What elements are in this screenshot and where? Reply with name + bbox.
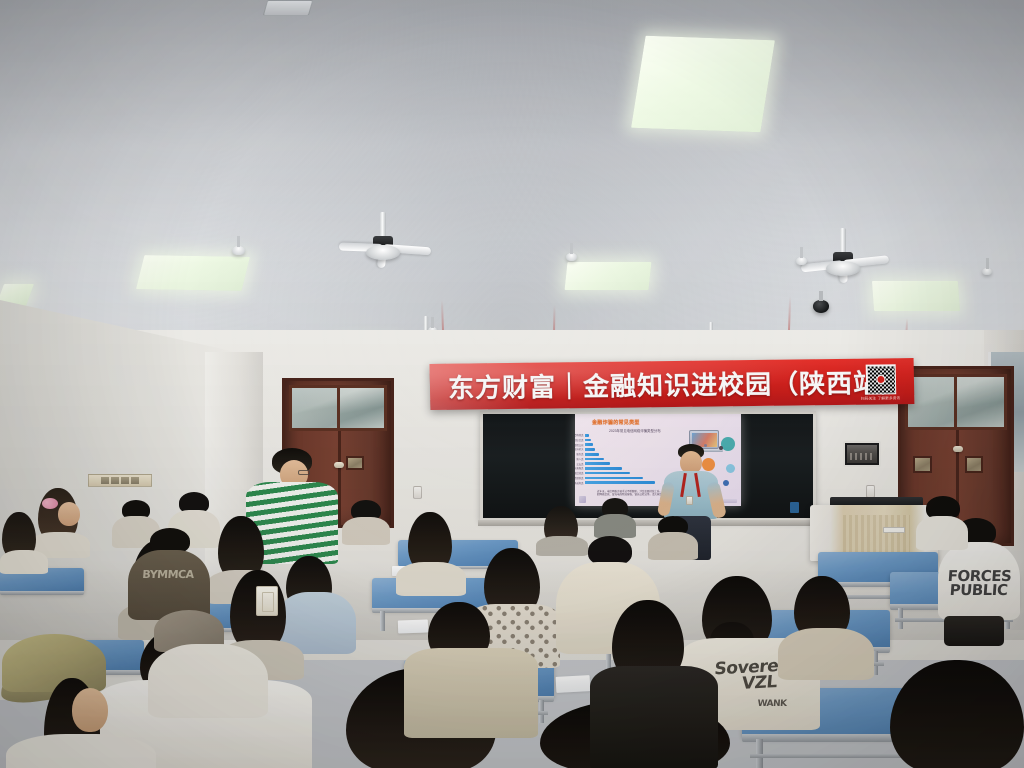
led-panel-light (136, 255, 250, 291)
chart-bar-label: 网络贷款类 (575, 471, 584, 475)
chart-bar (585, 477, 643, 480)
chart-bar (585, 439, 591, 442)
qr-code-icon[interactable] (866, 364, 897, 394)
door-viewport (913, 456, 932, 473)
slide-title: 金融诈骗的常见类型 (592, 419, 640, 426)
tee-graphic-text: FORCESPUBLIC (945, 570, 1013, 598)
student-top (0, 550, 48, 574)
door-transom-window (905, 374, 1006, 430)
qr-center-logo (876, 375, 885, 384)
smoke-detector-icon (796, 257, 807, 265)
decor-dot (723, 480, 729, 486)
chart-bar (585, 453, 599, 456)
placard-mark (131, 477, 139, 484)
student-top (916, 516, 968, 550)
led-panel-light (631, 36, 775, 133)
transom-pane (957, 377, 1003, 427)
student-top (778, 628, 874, 680)
smoke-detector-icon (232, 246, 245, 255)
student-top (590, 666, 718, 768)
student-back (594, 498, 636, 536)
student-foreground-right (890, 660, 1024, 768)
chart-bar-label: 网络婚恋、交友类 (575, 462, 584, 466)
display-image (847, 445, 877, 463)
chart-bar-label: 冒充领导、熟人类 (575, 457, 584, 461)
security-camera-icon (813, 300, 829, 313)
slide-logo (579, 496, 586, 503)
glasses-icon (298, 470, 310, 475)
led-panel-light (565, 262, 652, 290)
fan-hub (826, 261, 860, 276)
student-hair (890, 660, 1024, 768)
transom-pane (908, 377, 957, 427)
chart-bar-row: 虚假征信类 (585, 439, 681, 442)
chart-bar (585, 434, 589, 437)
student-right-back (916, 496, 968, 548)
placard-mark (121, 477, 129, 484)
placard-mark (111, 477, 119, 484)
decor-circle-blue (726, 464, 735, 473)
door-leaf-split (338, 431, 341, 525)
tee-graphic-text: BYMMCA (142, 570, 195, 580)
student-mid (396, 512, 466, 594)
chart-bar (585, 462, 610, 465)
fan-rod (840, 228, 846, 254)
student-head (58, 502, 80, 526)
student-top (404, 648, 538, 738)
chart-bar-label: 冒充公检法及政府机关 (575, 447, 584, 451)
baseball-cap (2, 634, 106, 692)
chart-bar (585, 472, 630, 475)
student-black-top (590, 600, 718, 768)
student-left-row (0, 512, 48, 572)
student-top (342, 517, 390, 545)
transom-pane (340, 388, 384, 428)
decor-circle-teal (721, 437, 735, 451)
chart-bar-label: 虚假投资理财类 (575, 476, 584, 480)
student-olive-cap (0, 630, 160, 768)
paper-sheet (556, 675, 591, 693)
chart-bar (585, 467, 622, 470)
hoodie-graphic-subtext: WANK (742, 700, 803, 708)
led-panel-light (872, 281, 960, 311)
student-top (594, 514, 636, 538)
desk-edge (0, 591, 84, 595)
ceiling-fan (824, 228, 862, 278)
wall-placard (88, 474, 152, 487)
student-hair (218, 516, 264, 578)
chart-bar-label: 冒充军警购物类 (575, 433, 584, 437)
chart-bar-label: 刷单返利类 (575, 481, 584, 485)
door-transom-window (289, 385, 387, 431)
student-pants (944, 616, 1004, 646)
smoke-detector-icon (982, 268, 992, 275)
chart-bar (585, 443, 593, 446)
chart-bar-row: 冒充军警购物类 (585, 434, 681, 437)
student-mid-right (778, 576, 874, 676)
air-vent (263, 0, 314, 16)
fan-rod (380, 212, 386, 238)
chart-bar-label: 网络游戏产品虚假交易 (575, 443, 584, 447)
desk-leg (380, 611, 385, 631)
placard-mark (101, 477, 109, 484)
light-switch[interactable] (413, 486, 422, 499)
id-badge (686, 496, 693, 505)
hair-bow-icon (42, 498, 58, 509)
slide-footer-chip (723, 499, 737, 503)
podium-label (883, 527, 905, 533)
transom-pane (292, 388, 339, 428)
chart-bar (585, 458, 604, 461)
door-handle[interactable] (953, 446, 963, 452)
event-banner: 东方财富｜金融知识进校园（陕西站） 扫码关注 了解更多资讯 (430, 358, 915, 410)
wall-mounted-display (843, 441, 881, 467)
student-head (72, 688, 108, 732)
slide-subtitle: 2023年常见电信网络诈骗类型分布 (609, 428, 661, 433)
student-khaki-jacket (404, 602, 538, 734)
smoke-detector-icon (566, 253, 577, 261)
student-top (6, 734, 156, 768)
chart-bar-label: 冒充客服类 (575, 466, 584, 470)
door-viewport (346, 456, 364, 470)
classroom-photo: 金融诈骗的常见类型 2023年常见电信网络诈骗类型分布 冒充军警购物类虚假征信类… (0, 0, 1024, 768)
door-viewport (965, 456, 984, 473)
student-top (148, 644, 268, 718)
desk (0, 568, 84, 608)
ceiling-fan (363, 212, 403, 264)
student-brown-tee: BYMMCA (128, 528, 210, 618)
chart-bar-label: 虚假征信类 (575, 438, 584, 442)
qr-caption: 扫码关注 了解更多资讯 (861, 396, 900, 401)
student-gray-cap (148, 610, 268, 716)
chart-bar (585, 481, 655, 484)
student-top (396, 562, 466, 596)
blackboard-label (790, 502, 799, 513)
chart-bar-label: 虚假购物、服务类 (575, 452, 584, 456)
banner-text: 东方财富｜金融知识进校园（陕西站） (448, 363, 908, 406)
student-back (342, 500, 390, 544)
fan-hub (366, 245, 400, 260)
chart-bar (585, 448, 595, 451)
